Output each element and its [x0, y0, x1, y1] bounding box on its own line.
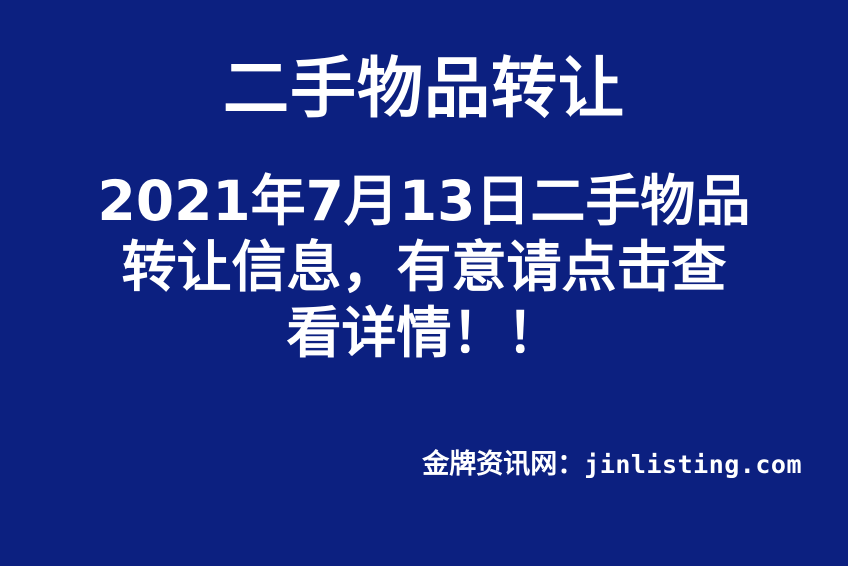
page-title: 二手物品转让	[0, 52, 848, 126]
announcement-line-3: 看详情！！	[0, 300, 848, 366]
poster-canvas: 二手物品转让 2021年7月13日二手物品 转让信息，有意请点击查 看详情！！ …	[0, 0, 848, 566]
watermark: 金牌资讯网： jinlisting.com	[422, 448, 802, 482]
watermark-site-url: jinlisting.com	[584, 448, 802, 482]
announcement-body: 2021年7月13日二手物品 转让信息，有意请点击查 看详情！！	[0, 168, 848, 366]
announcement-line-1: 2021年7月13日二手物品	[0, 168, 848, 234]
announcement-line-2: 转让信息，有意请点击查	[0, 234, 848, 300]
watermark-site-label: 金牌资讯网：	[422, 448, 584, 482]
